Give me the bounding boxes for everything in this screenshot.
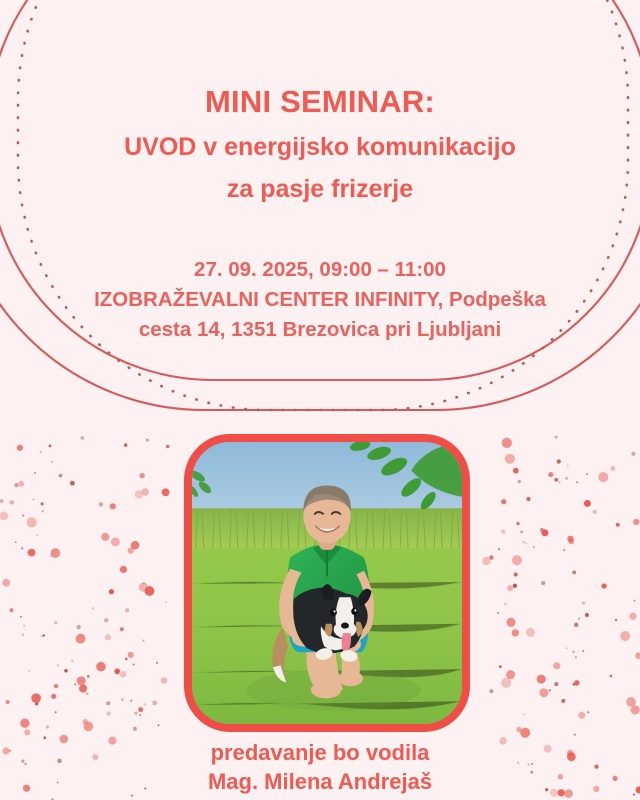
- speaker-photo: [192, 442, 462, 724]
- event-venue-line-1: IZOBRAŽEVALNI CENTER INFINITY, Podpeška: [0, 285, 640, 315]
- headline-subtitle-line-2: za pasje frizerje: [0, 173, 640, 206]
- headline-block: MINI SEMINAR: UVOD v energijsko komunika…: [0, 84, 640, 206]
- credit-intro: predavanje bo vodila: [0, 738, 640, 767]
- event-datetime: 27. 09. 2025, 09:00 – 11:00: [0, 255, 640, 285]
- event-details-block: 27. 09. 2025, 09:00 – 11:00 IZOBRAŽEVALN…: [0, 255, 640, 345]
- speaker-credit-block: predavanje bo vodila Mag. Milena Andreja…: [0, 738, 640, 797]
- event-venue-line-2: cesta 14, 1351 Brezovica pri Ljubljani: [0, 315, 640, 345]
- speaker-photo-frame: [184, 434, 470, 732]
- page-title: MINI SEMINAR:: [0, 84, 640, 121]
- poster-canvas: MINI SEMINAR: UVOD v energijsko komunika…: [0, 0, 640, 800]
- speaker-name: Mag. Milena Andrejaš: [0, 767, 640, 796]
- headline-subtitle-line-1: UVOD v energijsko komunikacijo: [0, 131, 640, 164]
